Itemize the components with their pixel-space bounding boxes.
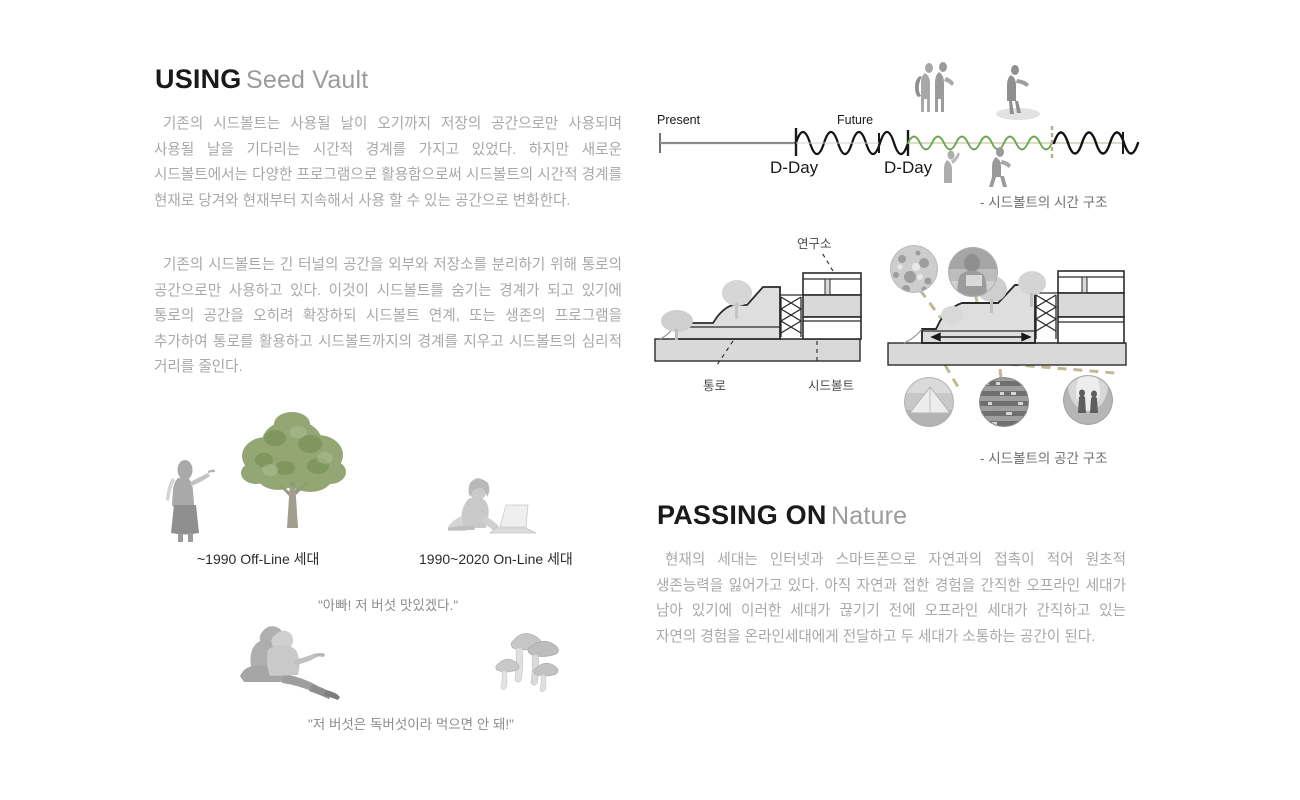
space-structure-caption: - 시드볼트의 공간 구조 (980, 447, 1108, 467)
passing-on-title-strong: PASSING ON (657, 500, 827, 530)
present-label: Present (657, 113, 700, 127)
girl-pointing-icon (166, 460, 215, 542)
future-label: Future (837, 113, 873, 127)
timeline-green-and-future (908, 126, 1138, 160)
using-paragraph-2: 기존의 시드볼트는 긴 터널의 공간을 외부와 저장소를 분리하기 위해 통로의… (154, 253, 622, 381)
research-lab-label: 연구소 (797, 233, 832, 252)
ground-slab (888, 343, 1126, 365)
father-quote: "저 버섯은 독버섯이라 먹으면 안 돼!" (308, 713, 514, 733)
passing-on-section-title: PASSING ON Nature (657, 500, 907, 531)
father-and-child-icon (240, 626, 340, 700)
father-child-figure (238, 618, 368, 700)
child-quote: "아빠! 저 버섯 맛있겠다." (318, 594, 458, 614)
woman-with-laptop-icon (448, 478, 499, 531)
mushroom-cluster-icon (496, 633, 559, 691)
ground-slab (655, 339, 860, 361)
standing-person-platform-icon (996, 65, 1040, 120)
using-title-light: Seed Vault (246, 66, 368, 94)
bubble-seed-archive (979, 377, 1029, 427)
mushroom-figure (492, 620, 562, 692)
online-generation-figure (430, 478, 560, 540)
bubble-tent-camp (904, 377, 954, 428)
time-structure-caption: - 시드볼트의 시간 구조 (980, 191, 1108, 211)
seed-vault-section-left (655, 255, 865, 365)
passing-on-paragraph: 현재의 세대는 인터넷과 스마트폰으로 자연과의 접촉이 적어 원초적 생존능력… (656, 548, 1126, 650)
laptop-icon (490, 505, 536, 533)
lower-figures-icon (944, 147, 1011, 187)
using-paragraph-1: 기존의 시드볼트는 사용될 날이 오기까지 저장의 공간으로만 사용되며 사용될… (154, 112, 622, 214)
seed-vault-label: 시드볼트 (808, 375, 854, 394)
seed-vault-section-right (880, 245, 1130, 430)
presentation-board: USING Seed Vault 기존의 시드볼트는 사용될 날이 오기까지 저… (0, 0, 1300, 800)
bubble-tunnel-figures (1063, 359, 1113, 425)
passage-label: 통로 (703, 375, 726, 394)
research-building (803, 273, 861, 339)
passing-on-title-light: Nature (831, 502, 907, 530)
bubble-soil-texture (890, 245, 938, 293)
using-section-title: USING Seed Vault (155, 64, 368, 95)
offline-generation-figure (160, 400, 390, 540)
online-generation-caption: 1990~2020 On-Line 세대 (419, 549, 573, 569)
tree-icon (241, 412, 346, 528)
dday-label-left: D-Day (770, 158, 818, 178)
truss-connector (780, 295, 803, 339)
dday-label-right: D-Day (884, 158, 932, 178)
truss-connector (1035, 293, 1058, 343)
using-title-strong: USING (155, 64, 242, 94)
timeline-present-to-dday (660, 128, 908, 156)
hiker-group-icon (915, 62, 954, 112)
offline-generation-caption: ~1990 Off-Line 세대 (197, 549, 319, 569)
research-building (1058, 271, 1124, 343)
